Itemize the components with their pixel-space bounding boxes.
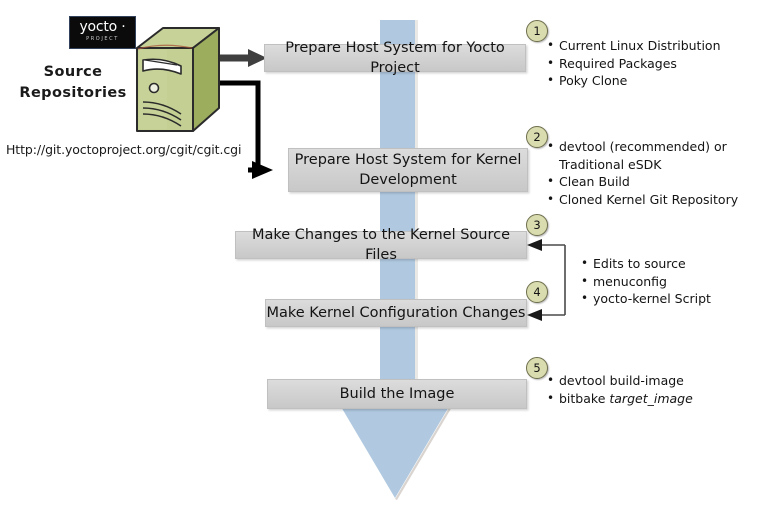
bullet-item: Required Packages: [546, 56, 761, 73]
bullet-item: Poky Clone: [546, 73, 761, 90]
box-1-label: Prepare Host System for Yocto Project: [265, 38, 525, 78]
step-1-bullet-list: Current Linux DistributionRequired Packa…: [546, 38, 761, 91]
step-5-number: 5: [533, 361, 540, 375]
step-2-bullet-list: devtool (recommended) orTraditional eSDK…: [546, 139, 761, 209]
source-repository-url: Http://git.yoctoproject.org/cgit/cgit.cg…: [6, 142, 241, 157]
step-5-bullet-list: devtool build-imagebitbake target_image: [546, 373, 761, 408]
bullet-item-emphasis: target_image: [609, 391, 692, 406]
step-2-number: 2: [533, 130, 540, 144]
process-box-make-kernel-config-changes[interactable]: Make Kernel Configuration Changes: [265, 299, 527, 327]
arrow-bracket-step3-step4: [527, 239, 565, 321]
source-label-line1: Source: [12, 62, 134, 83]
step-number-badge-4: 4: [526, 281, 548, 303]
logo-subtitle: PROJECT: [70, 36, 135, 42]
step-number-badge-2: 2: [526, 126, 548, 148]
step-number-badge-5: 5: [526, 357, 548, 379]
source-label-line2: Repositories: [12, 83, 134, 104]
server-tower-icon: [133, 26, 221, 144]
bullet-item: Traditional eSDK: [546, 157, 761, 174]
arrow-server-to-step1: [219, 49, 267, 67]
bullet-item: Clean Build: [546, 174, 761, 191]
diagram-canvas: yocto · PROJECT Source Repositories Http…: [0, 0, 769, 517]
box-2-label: Prepare Host System for Kernel Developme…: [295, 150, 522, 190]
process-box-build-the-image[interactable]: Build the Image: [267, 379, 527, 409]
process-box-prepare-host-yocto[interactable]: Prepare Host System for Yocto Project: [264, 44, 526, 72]
bullet-item: menuconfig: [580, 274, 760, 291]
bullet-item: devtool (recommended) or: [546, 139, 761, 156]
bullet-item: Current Linux Distribution: [546, 38, 761, 55]
arrow-server-to-step2: [219, 83, 273, 179]
box-2-label-line2: Development: [359, 172, 457, 188]
box-5-label: Build the Image: [340, 384, 455, 404]
box-2-label-line1: Prepare Host System for Kernel: [295, 152, 522, 168]
box-4-label: Make Kernel Configuration Changes: [267, 303, 526, 323]
bullet-item: devtool build-image: [546, 373, 761, 390]
process-box-prepare-host-kernel[interactable]: Prepare Host System for Kernel Developme…: [288, 148, 528, 192]
bullet-item: bitbake target_image: [546, 391, 761, 408]
step-3-number: 3: [533, 218, 540, 232]
logo-wordmark: yocto ·: [70, 20, 135, 34]
box-3-label: Make Changes to the Kernel Source Files: [236, 225, 526, 265]
step-number-badge-3: 3: [526, 214, 548, 236]
bullet-item: Edits to source: [580, 256, 760, 273]
process-box-make-kernel-source-changes[interactable]: Make Changes to the Kernel Source Files: [235, 231, 527, 259]
yocto-project-logo: yocto · PROJECT: [69, 16, 136, 49]
step-number-badge-1: 1: [526, 20, 548, 42]
bullet-item: yocto-kernel Script: [580, 291, 760, 308]
step-1-number: 1: [533, 24, 540, 38]
bullet-item: Cloned Kernel Git Repository: [546, 192, 761, 209]
step-3-4-bullet-list: Edits to sourcemenuconfigyocto-kernel Sc…: [580, 256, 760, 309]
step-4-number: 4: [533, 285, 540, 299]
source-repositories-label: Source Repositories: [12, 62, 134, 104]
